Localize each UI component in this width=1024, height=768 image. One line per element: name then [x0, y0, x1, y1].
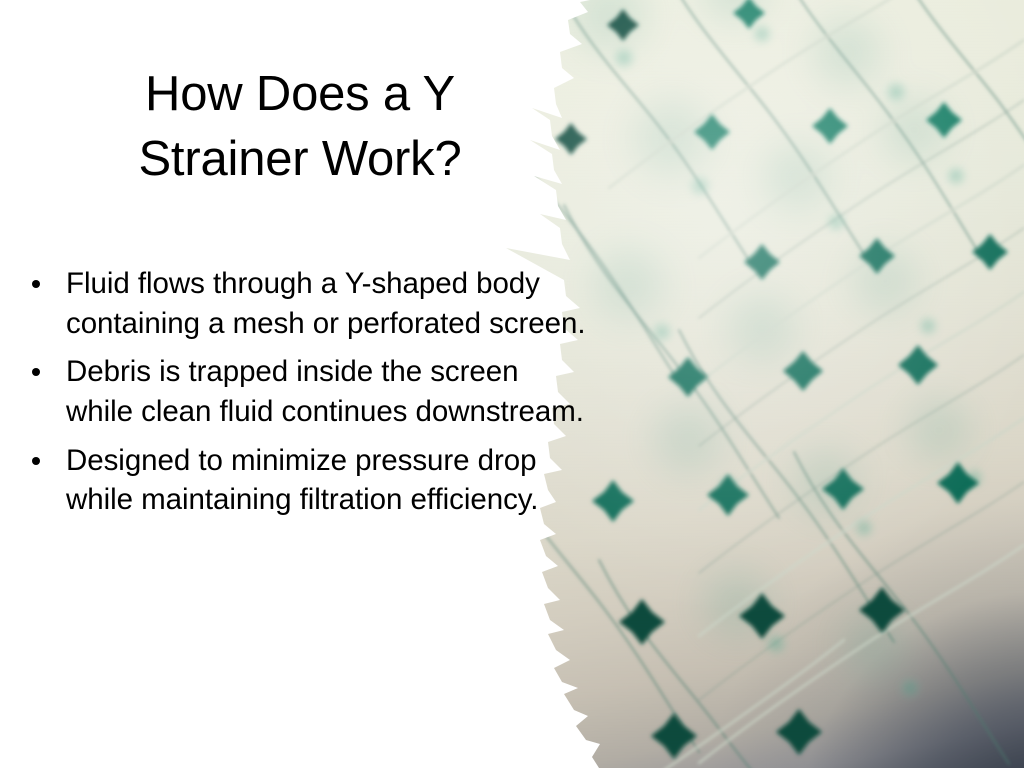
bullet-marker-icon	[32, 457, 40, 465]
bullet-marker-icon	[32, 368, 40, 376]
slide-title-line-2: Strainer Work?	[20, 127, 580, 192]
bullet-item: Designed to minimize pressure drop while…	[20, 441, 590, 520]
bullet-marker-icon	[32, 280, 40, 288]
bullet-list: Fluid flows through a Y-shaped body cont…	[20, 264, 590, 529]
bullet-item: Fluid flows through a Y-shaped body cont…	[20, 264, 590, 343]
bullet-item: Debris is trapped inside the screen whil…	[20, 352, 590, 431]
bullet-text: Debris is trapped inside the screen whil…	[66, 355, 584, 428]
slide-title-line-1: How Does a Y	[20, 62, 580, 127]
bullet-text: Fluid flows through a Y-shaped body cont…	[66, 267, 586, 340]
bullet-text: Designed to minimize pressure drop while…	[66, 444, 538, 517]
slide-title: How Does a Y Strainer Work?	[20, 62, 580, 191]
slide: How Does a Y Strainer Work? Fluid flows …	[0, 0, 1024, 768]
